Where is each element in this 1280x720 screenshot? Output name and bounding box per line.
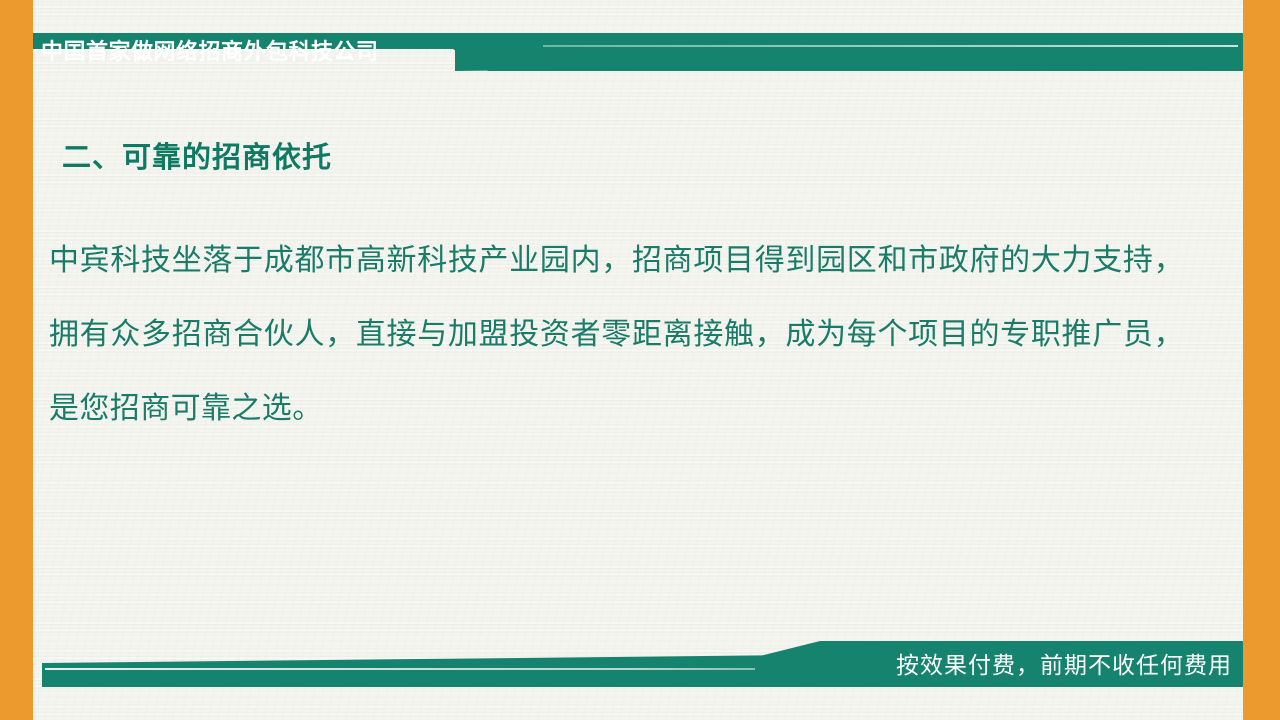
section-heading: 二、可靠的招商依托 — [62, 134, 332, 176]
header-title: 中国首家做网络招商外包科技公司 — [41, 33, 379, 71]
footer-tagline: 按效果付费，前期不收任何费用 — [896, 645, 1232, 685]
footer-hairline-divider — [45, 668, 755, 670]
header-hairline-divider — [543, 45, 1238, 47]
slide-canvas: 中国首家做网络招商外包科技公司 二、可靠的招商依托 中宾科技坐落于成都市高新科技… — [0, 0, 1280, 720]
body-paragraph: 中宾科技坐落于成都市高新科技产业园内，招商项目得到园区和市政府的大力支持，拥有众… — [49, 224, 1184, 446]
